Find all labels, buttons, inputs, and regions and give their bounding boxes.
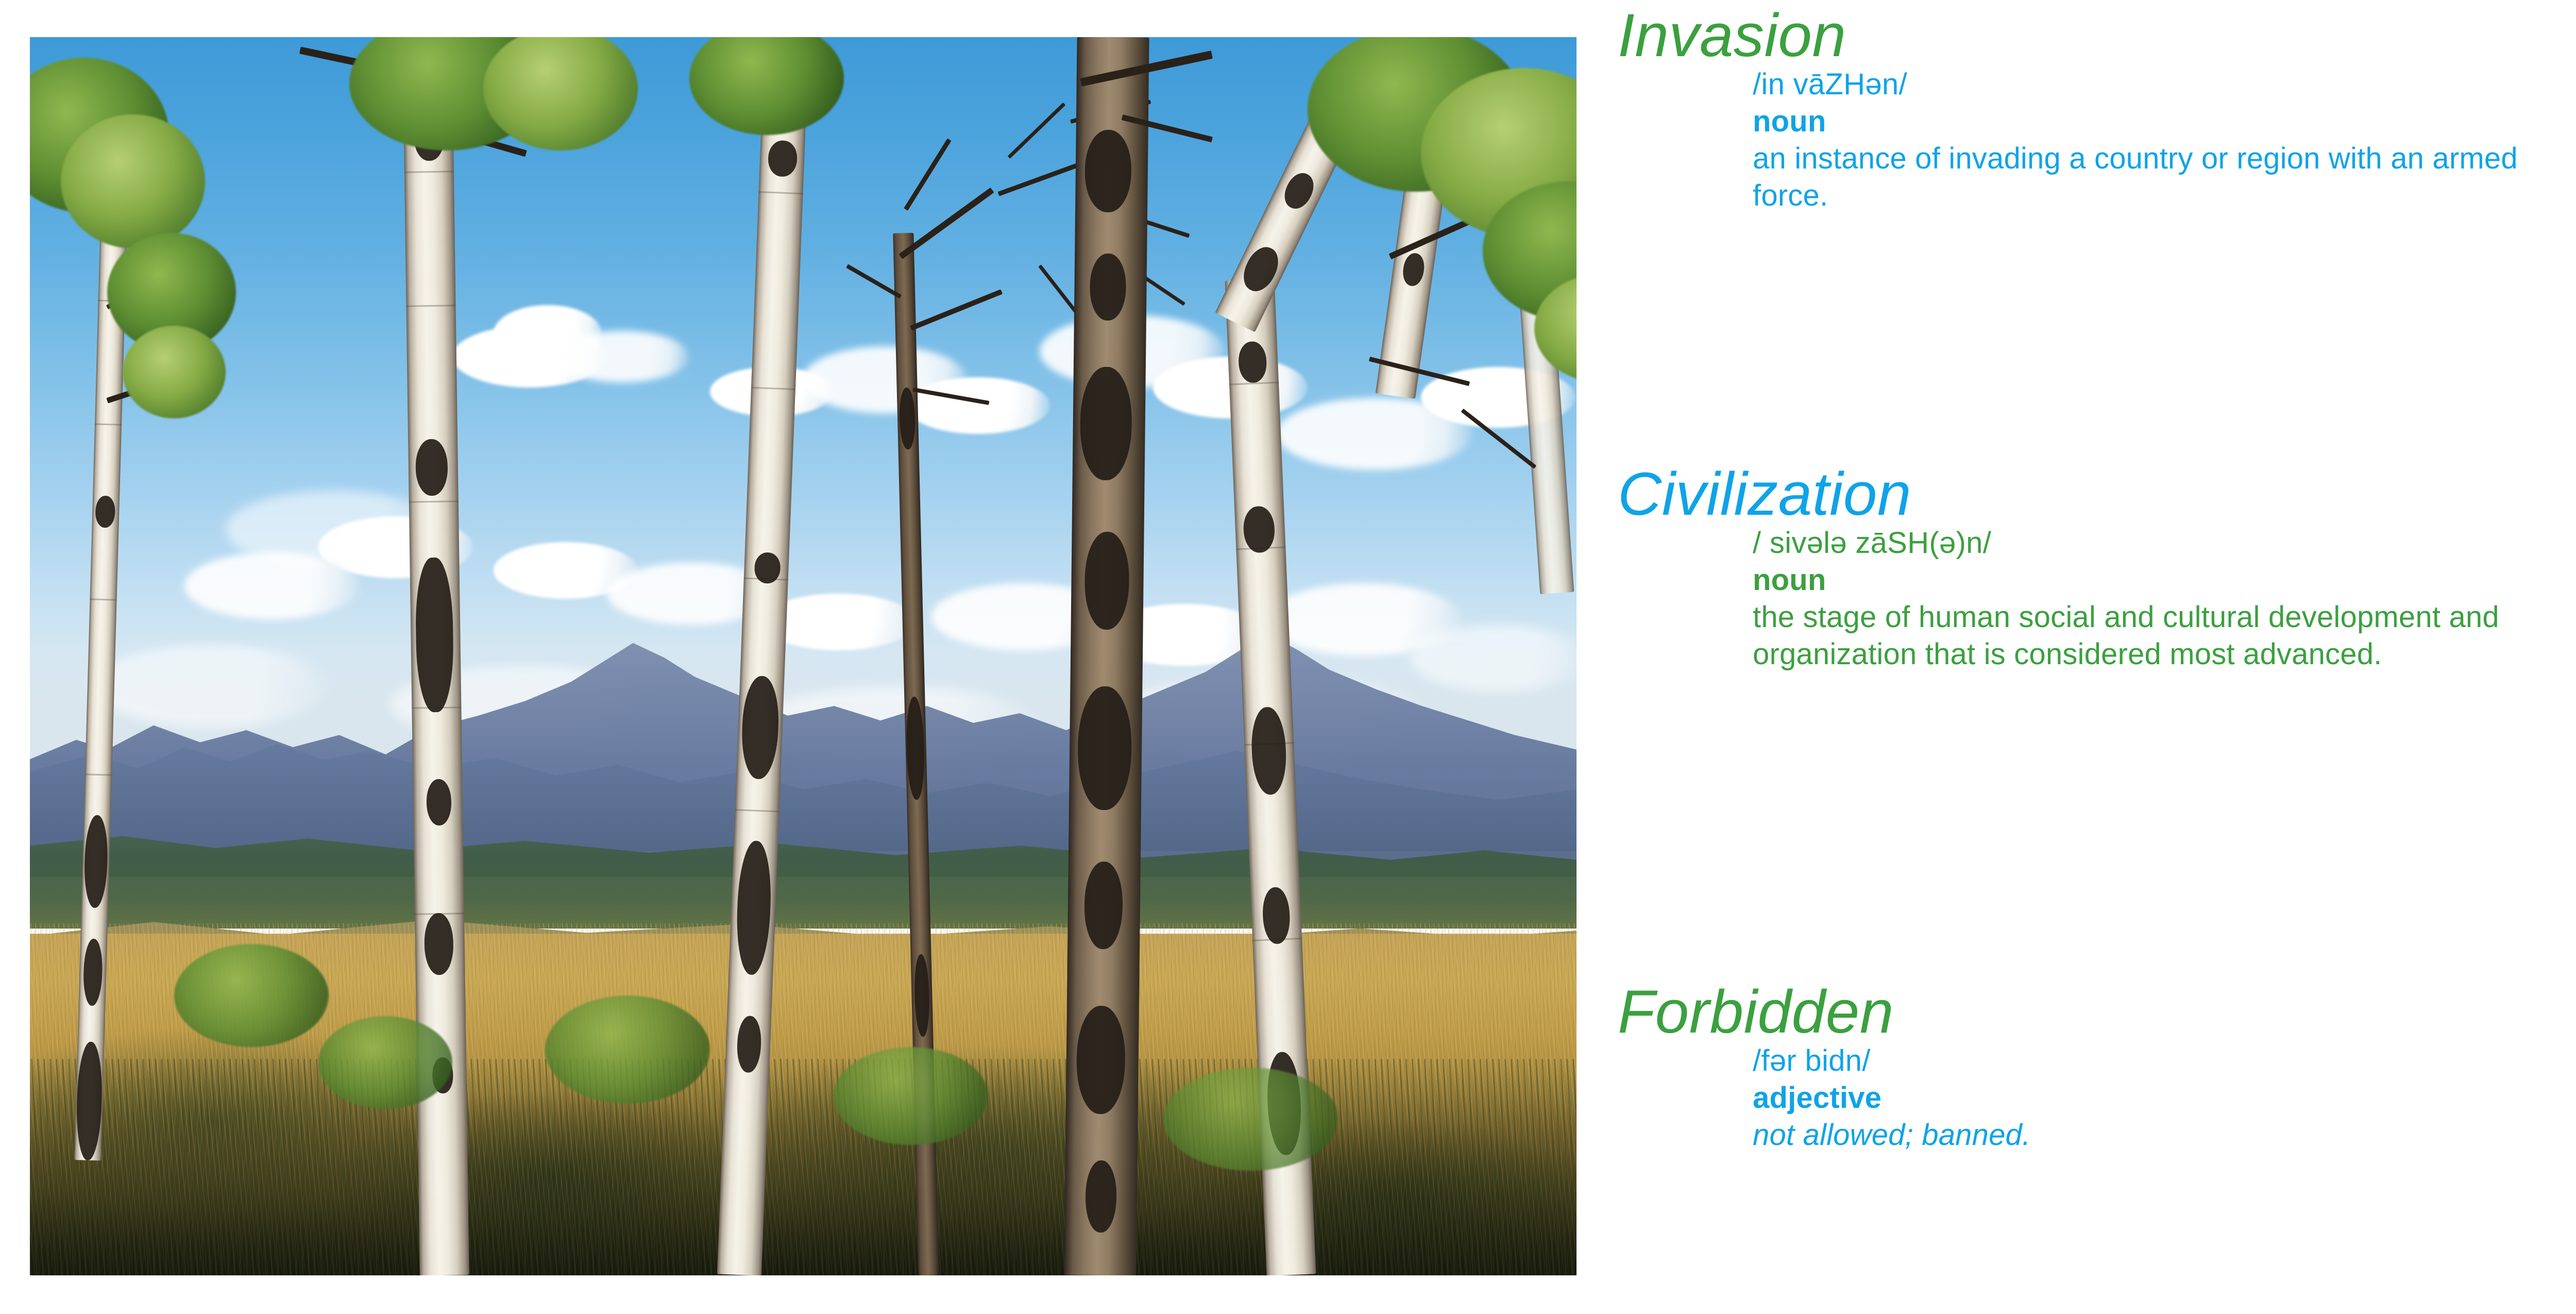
dictionary-entry-invasion: Invasion /in vāZHən/ noun an instance of… [1618,5,2576,214]
entry-part-of-speech-invasion: noun [1753,103,2576,140]
entry-word-civilization: Civilization [1618,464,2576,525]
landscape-photograph [30,37,1577,1275]
entry-word-invasion: Invasion [1618,5,2576,66]
entry-definition-forbidden: not allowed; banned. [1753,1117,2556,1154]
dictionary-entry-forbidden: Forbidden /fər bidn/ adjective not allow… [1618,982,2576,1154]
entry-definition-invasion: an instance of invading a country or reg… [1753,140,2556,214]
dictionary-entry-civilization: Civilization / sivələ zāSH(ə)n/ noun the… [1618,464,2576,673]
entry-part-of-speech-forbidden: adjective [1753,1080,2576,1117]
entry-pronunciation-invasion: /in vāZHən/ [1753,66,2576,103]
entry-part-of-speech-civilization: noun [1753,562,2576,599]
entry-pronunciation-forbidden: /fər bidn/ [1753,1042,2576,1080]
definitions-column: Invasion /in vāZHən/ noun an instance of… [1618,0,2576,1314]
entry-definition-civilization: the stage of human social and cultural d… [1753,599,2556,673]
entry-word-forbidden: Forbidden [1618,982,2576,1042]
foreground-grass [30,1059,1577,1275]
entry-pronunciation-civilization: / sivələ zāSH(ə)n/ [1753,525,2576,562]
